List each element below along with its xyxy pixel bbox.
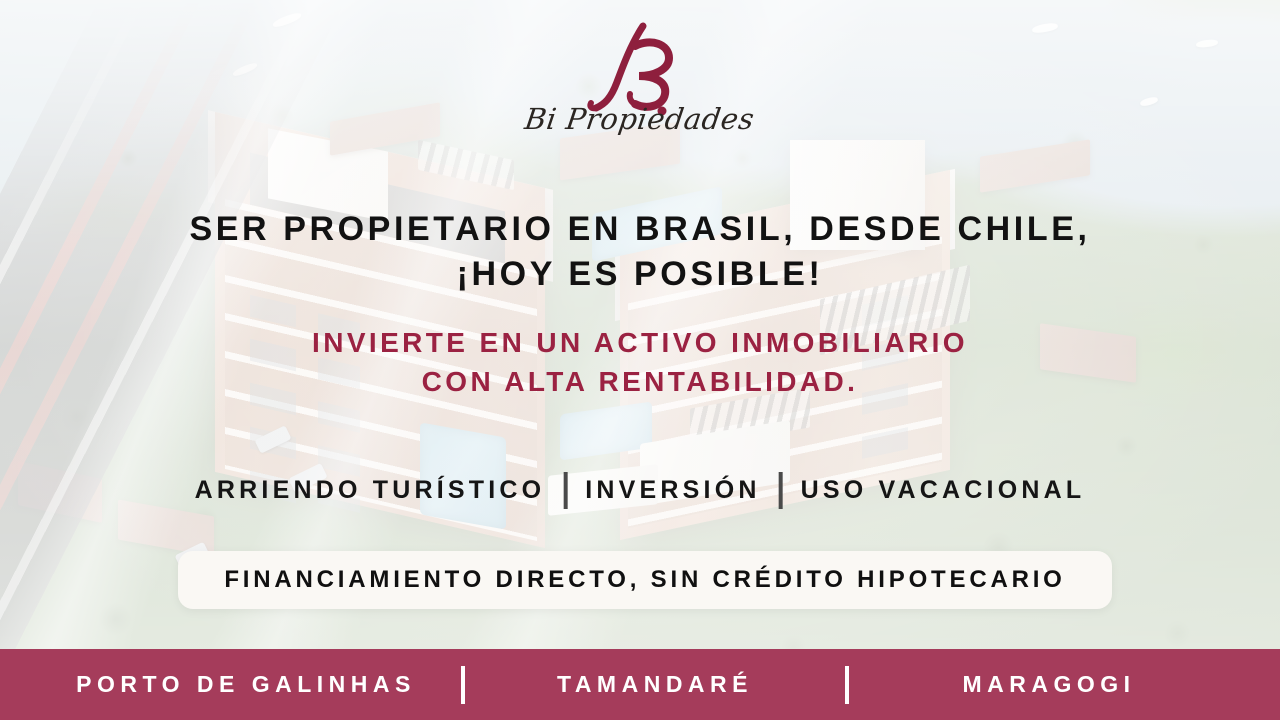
feature-item-uso-vacacional: USO VACACIONAL <box>801 476 1086 505</box>
feature-separator <box>563 472 567 509</box>
headline: SER PROPIETARIO EN BRASIL, DESDE CHILE, … <box>110 207 1170 297</box>
promo-poster: Bi Propiedades SER PROPIETARIO EN BRASIL… <box>0 0 1280 720</box>
headline-line-1: SER PROPIETARIO EN BRASIL, DESDE CHILE, <box>110 207 1170 252</box>
location-maragogi: MARAGOGI <box>849 671 1249 698</box>
subheadline-line-2: CON ALTA RENTABILIDAD. <box>110 362 1170 401</box>
feature-separator <box>779 472 783 509</box>
feature-item-inversion: INVERSIÓN <box>585 476 760 505</box>
subheadline-line-1: INVIERTE EN UN ACTIVO INMOBILIARIO <box>110 323 1170 362</box>
feature-item-arriendo: ARRIENDO TURÍSTICO <box>195 476 546 505</box>
locations-bar: PORTO DE GALINHAS TAMANDARÉ MARAGOGI <box>0 649 1280 720</box>
location-tamandare: TAMANDARÉ <box>465 671 845 698</box>
subheadline: INVIERTE EN UN ACTIVO INMOBILIARIO CON A… <box>110 323 1170 401</box>
poster-content: Bi Propiedades SER PROPIETARIO EN BRASIL… <box>0 0 1280 720</box>
financing-banner: FINANCIAMIENTO DIRECTO, SIN CRÉDITO HIPO… <box>178 551 1112 609</box>
location-porto-de-galinhas: PORTO DE GALINHAS <box>31 671 461 698</box>
features-row: ARRIENDO TURÍSTICO INVERSIÓN USO VACACIO… <box>195 472 1086 509</box>
brand-logo: Bi Propiedades <box>0 18 1280 138</box>
headline-line-2: ¡HOY ES POSIBLE! <box>110 252 1170 297</box>
financing-banner-text: FINANCIAMIENTO DIRECTO, SIN CRÉDITO HIPO… <box>224 566 1065 594</box>
brand-wordmark: Bi Propiedades <box>523 102 757 136</box>
